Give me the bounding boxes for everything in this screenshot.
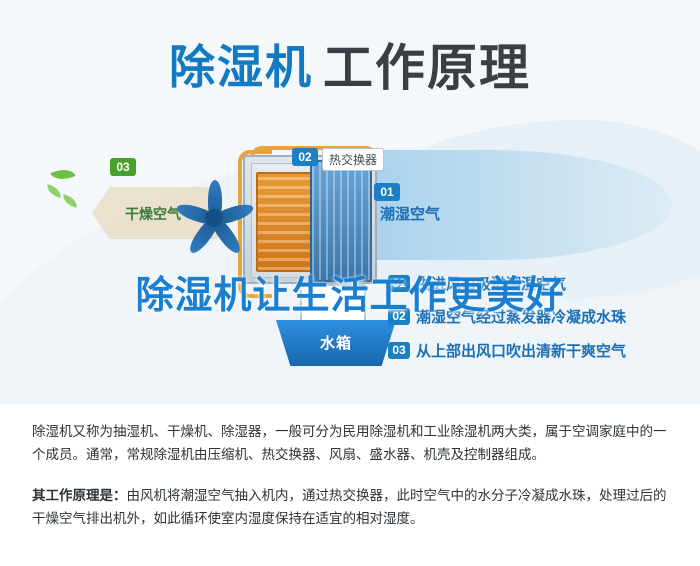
badge-03: 03 (110, 158, 136, 176)
page-title-part-a: 除湿机 (169, 41, 313, 93)
body-text-block: 除湿机又称为抽湿机、干燥机、除湿器，一般可分为民用除湿机和工业除湿机两大类，属于… (0, 404, 700, 566)
overlay-headline: 除湿机让生活工作更美好 (0, 264, 700, 319)
fan-hub (205, 209, 223, 227)
leaf-icon (45, 184, 63, 198)
water-tank-label: 水箱 (276, 332, 396, 353)
body-paragraph-2: 其工作原理是：由风机将潮湿空气抽入机内，通过热交换器，此时空气中的水分子冷凝成水… (32, 484, 672, 530)
legend-text-03: 从上部出风口吹出清新干爽空气 (416, 343, 626, 360)
heat-exchanger-chip: 热交换器 (322, 148, 384, 171)
legend-item-03: 03从上部出风口吹出清新干爽空气 (388, 340, 626, 361)
leaf-icon (50, 164, 75, 185)
condenser-coil (256, 172, 312, 272)
legend-number-03: 03 (388, 342, 410, 359)
badge-02: 02 (292, 148, 318, 166)
badge-01: 01 (374, 183, 400, 201)
diagram-panel: 除湿机工作原理 潮湿空气 干燥空气 (0, 0, 700, 404)
fan-icon (172, 176, 256, 260)
humid-air-label: 潮湿空气 (380, 203, 440, 224)
page-title: 除湿机工作原理 (0, 28, 700, 100)
body-paragraph-1: 除湿机又称为抽湿机、干燥机、除湿器，一般可分为民用除湿机和工业除湿机两大类，属于… (32, 420, 672, 466)
body-paragraph-2-text: 由风机将潮湿空气抽入机内，通过热交换器，此时空气中的水分子冷凝成水珠，处理过后的… (32, 488, 667, 526)
infographic-page: 除湿机工作原理 潮湿空气 干燥空气 (0, 0, 700, 566)
body-paragraph-2-label: 其工作原理是： (32, 488, 127, 503)
page-title-part-b: 工作原理 (323, 40, 531, 96)
leaf-icon (61, 194, 79, 208)
evaporator-fins (312, 162, 370, 280)
condenser-fins (258, 174, 310, 270)
